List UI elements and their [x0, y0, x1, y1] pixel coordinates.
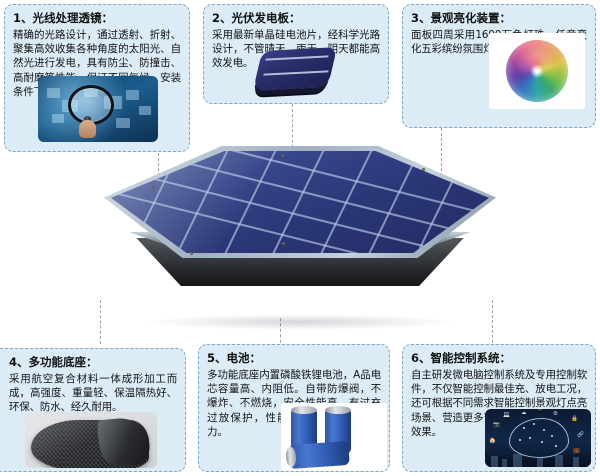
frame-bolt [422, 168, 425, 171]
feature-2-title: 2、光伏发电板： [212, 11, 380, 26]
panel-photovoltaic-glass [111, 151, 489, 253]
infographic-canvas: 1、光线处理透镜： 精确的光路设计，通过透射、折射、聚集高效收集各种角度的太阳光… [0, 0, 600, 476]
frame-bolt [190, 252, 193, 255]
feature-5-title: 5、电池： [207, 351, 381, 366]
smart-iot-brain-network-image: 📷 💻 ☁ 📱 ⚙ 🔒 🔗 🏠 💼 [485, 409, 591, 467]
feature-panel-5[interactable]: 5、电池： 多功能底座内置磷酸铁锂电池，A品电芯容量高、内阻低。自带防爆阀，不爆… [198, 344, 390, 472]
feature-4-title: 4、多功能底座： [0, 355, 177, 370]
feature-panel-4[interactable]: 4、多功能底座： 采用航空复合材料一体成形加工而成，高强度、重量轻、保温隔热好、… [0, 348, 186, 472]
monocrystalline-solar-cell-image [250, 45, 346, 101]
product-shadow [144, 314, 456, 330]
hexagonal-solar-panel-product-image [104, 146, 496, 336]
color-wheel-image [489, 33, 585, 109]
feature-panel-3[interactable]: 3、景观亮化装置： 面板四周采用1600万色灯珠，任意变化五彩缤纷氛围灯光效果 [402, 4, 596, 128]
frame-bolt [152, 186, 155, 189]
lithium-battery-cells-image [281, 403, 387, 471]
feature-1-title: 1、光线处理透镜： [13, 11, 181, 26]
feature-panel-6[interactable]: 6、智能控制系统： 自主研发微电脑控制系统及专用控制软件，不仅智能控制最佳充、放… [402, 344, 596, 472]
feature-panel-1[interactable]: 1、光线处理透镜： 精确的光路设计，通过透射、折射、聚集高效收集各种角度的太阳光… [4, 4, 190, 152]
feature-6-title: 6、智能控制系统： [411, 351, 587, 366]
connector-line-panel-4 [100, 300, 101, 344]
feature-panel-2[interactable]: 2、光伏发电板： 采用最新单晶硅电池片，经科学光路设计，不管晴天、雨天、阴天都能… [203, 4, 389, 104]
frame-bolt [282, 242, 285, 245]
magnifier-lens-icon [68, 85, 114, 125]
feature-3-title: 3、景观亮化装置： [411, 11, 587, 26]
frame-bolt [281, 154, 284, 157]
carbon-fiber-base-image [25, 412, 157, 468]
feature-4-body: 采用航空复合材料一体成形加工而成，高强度、重量轻、保温隔热好、环保、防水、经久耐… [0, 372, 177, 415]
magnifier-over-digital-map-image [38, 76, 158, 142]
